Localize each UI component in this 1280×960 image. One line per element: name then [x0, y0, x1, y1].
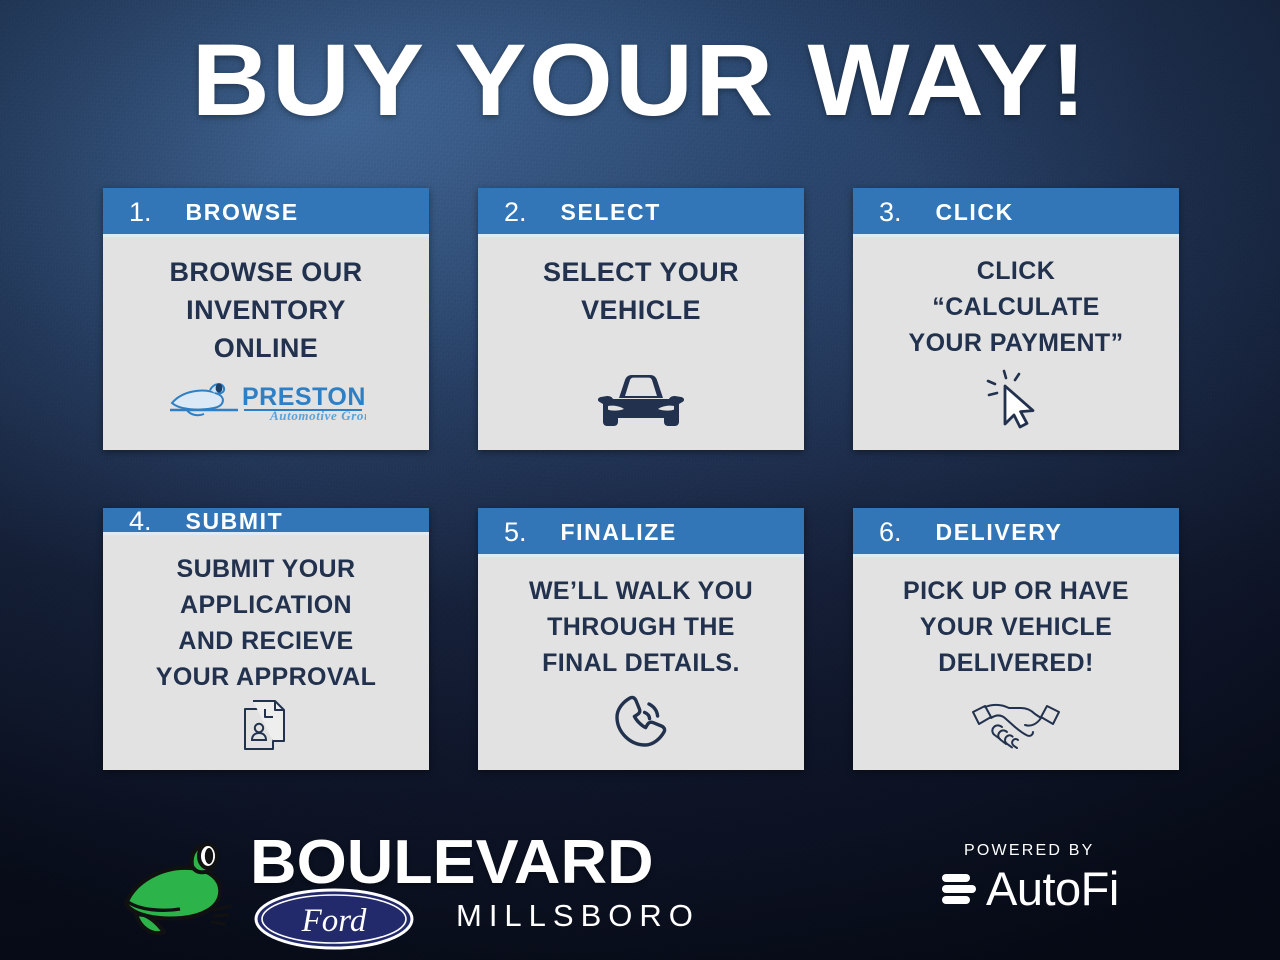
step-number: 3. [879, 199, 902, 226]
step-card-body: PICK UP OR HAVE YOUR VEHICLE DELIVERED! [853, 557, 1179, 770]
step-card-header: 4. SUBMIT [103, 508, 429, 535]
page-title: BUY YOUR WAY! [0, 28, 1280, 132]
svg-text:PRESTON: PRESTON [242, 383, 366, 411]
step-card-body: WE’LL WALK YOU THROUGH THE FINAL DETAILS… [478, 557, 804, 770]
step-title: SUBMIT [186, 510, 284, 533]
step-description: WE’LL WALK YOU THROUGH THE FINAL DETAILS… [529, 573, 753, 681]
step-card-body: SELECT YOUR VEHICLE [478, 237, 804, 450]
step-card-header: 5. FINALIZE [478, 508, 804, 557]
step-card-header: 1. BROWSE [103, 188, 429, 237]
step-number: 6. [879, 519, 902, 546]
step-title: BROWSE [186, 201, 299, 224]
preston-automotive-group-logo: PRESTON Automotive Group [166, 377, 366, 426]
step-card-select[interactable]: 2. SELECT SELECT YOUR VEHICLE [478, 188, 804, 450]
step-number: 4. [129, 508, 152, 535]
car-front-icon [595, 366, 687, 432]
step-card-submit[interactable]: 4. SUBMIT SUBMIT YOUR APPLICATION AND RE… [103, 508, 429, 770]
powered-by-label: POWERED BY [964, 842, 1190, 860]
powered-by-autofi[interactable]: POWERED BY AutoFi [940, 842, 1190, 914]
step-card-delivery[interactable]: 6. DELIVERY PICK UP OR HAVE YOUR VEHICLE… [853, 508, 1179, 770]
step-title: SELECT [561, 201, 661, 224]
step-card-browse[interactable]: 1. BROWSE BROWSE OUR INVENTORY ONLINE [103, 188, 429, 450]
ringing-phone-icon [610, 690, 672, 752]
step-card-header: 3. CLICK [853, 188, 1179, 237]
step-card-click[interactable]: 3. CLICK CLICK “CALCULATE YOUR PAYMENT” [853, 188, 1179, 450]
svg-text:Ford: Ford [301, 903, 367, 939]
autofi-bars-icon [940, 868, 980, 910]
step-description: PICK UP OR HAVE YOUR VEHICLE DELIVERED! [903, 573, 1129, 681]
step-card-header: 6. DELIVERY [853, 508, 1179, 557]
step-description: SELECT YOUR VEHICLE [543, 253, 739, 329]
green-frog-icon [118, 836, 238, 944]
step-title: FINALIZE [561, 521, 677, 544]
document-person-icon [239, 695, 293, 753]
handshake-icon [969, 694, 1063, 752]
boulevard-ford-logo[interactable]: BOULEVARD Ford MILLSBORO [118, 828, 758, 948]
step-number: 2. [504, 199, 527, 226]
step-card-body: SUBMIT YOUR APPLICATION AND RECIEVE YOUR… [103, 535, 429, 770]
step-number: 5. [504, 519, 527, 546]
step-title: DELIVERY [936, 521, 1063, 544]
mouse-cursor-click-icon [980, 368, 1052, 432]
step-title: CLICK [936, 201, 1014, 224]
step-description: BROWSE OUR INVENTORY ONLINE [170, 253, 363, 367]
ford-oval-logo: Ford [254, 888, 414, 950]
step-number: 1. [129, 199, 152, 226]
dealer-city: MILLSBORO [456, 900, 700, 931]
steps-grid: 1. BROWSE BROWSE OUR INVENTORY ONLINE [103, 188, 1187, 770]
autofi-wordmark: AutoFi [986, 864, 1119, 914]
step-description: CLICK “CALCULATE YOUR PAYMENT” [909, 253, 1124, 361]
step-card-finalize[interactable]: 5. FINALIZE WE’LL WALK YOU THROUGH THE F… [478, 508, 804, 770]
svg-text:Automotive Group: Automotive Group [269, 408, 366, 421]
step-card-body: CLICK “CALCULATE YOUR PAYMENT” [853, 237, 1179, 450]
step-card-body: BROWSE OUR INVENTORY ONLINE PRESTON [103, 237, 429, 450]
dealer-name: BOULEVARD [250, 832, 654, 894]
step-card-header: 2. SELECT [478, 188, 804, 237]
step-description: SUBMIT YOUR APPLICATION AND RECIEVE YOUR… [156, 551, 377, 695]
footer: BOULEVARD Ford MILLSBORO POWERED BY Auto… [0, 810, 1280, 960]
